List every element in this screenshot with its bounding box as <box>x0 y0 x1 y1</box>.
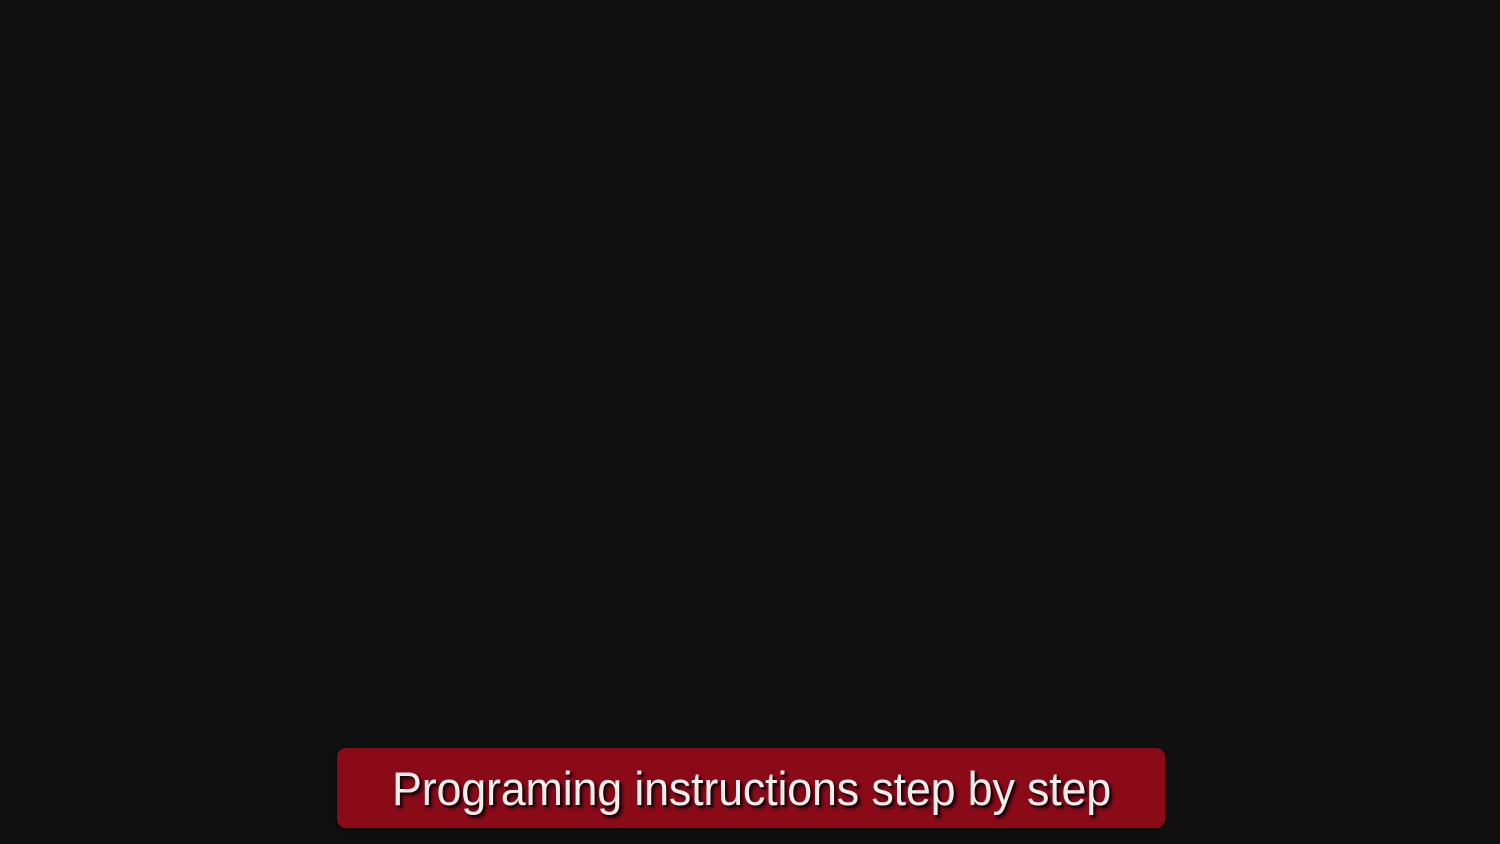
caption-banner: Programing instructions step by step <box>337 748 1165 828</box>
caption-text: Programing instructions step by step <box>391 765 1110 812</box>
screen-root: Programing instructions step by step <box>0 0 1500 844</box>
video-stage <box>0 0 1500 844</box>
